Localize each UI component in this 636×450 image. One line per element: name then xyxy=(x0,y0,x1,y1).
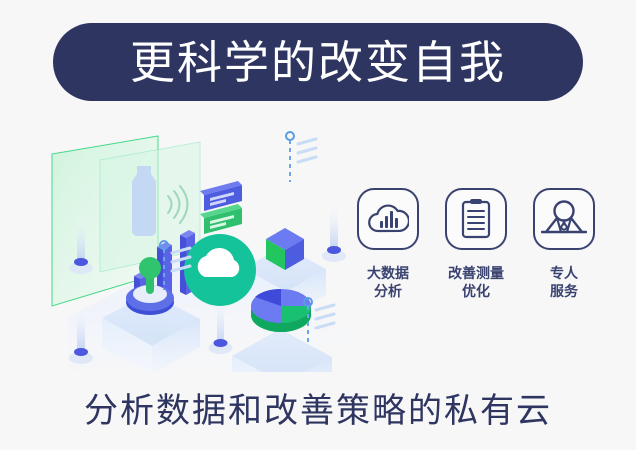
feature-label: 大数据 分析 xyxy=(367,264,409,300)
feature-label-line1: 专人 xyxy=(550,264,578,282)
map-pin-right-top xyxy=(286,132,316,182)
feature-label: 专人 服务 xyxy=(550,264,578,300)
glass-pin-far-right xyxy=(322,198,346,262)
cloud-bar-chart-icon xyxy=(357,188,419,250)
feature-label-line1: 大数据 xyxy=(367,264,409,282)
bottle-silhouette xyxy=(132,166,156,236)
feature-label-line2: 分析 xyxy=(367,282,409,300)
feature-dedicated-service[interactable]: 专人 服务 xyxy=(528,188,600,300)
feature-label-line2: 优化 xyxy=(448,282,504,300)
support-agent-icon xyxy=(533,188,595,250)
feature-label-line2: 服务 xyxy=(550,282,578,300)
title-banner: 更科学的改变自我 xyxy=(53,23,583,101)
promo-banner-page: 更科学的改变自我 xyxy=(0,0,636,450)
feature-big-data-analysis[interactable]: 大数据 分析 xyxy=(352,188,424,300)
footer-tagline: 分析数据和改善策略的私有云 xyxy=(0,383,636,432)
feature-label: 改善测量 优化 xyxy=(448,264,504,300)
feature-improvement-measurement[interactable]: 改善测量 优化 xyxy=(440,188,512,300)
clipboard-icon xyxy=(445,188,507,250)
feature-label-line1: 改善测量 xyxy=(448,264,504,282)
feature-list: 大数据 分析 改善测量 优化 xyxy=(352,188,600,328)
pie-chart xyxy=(251,289,311,332)
page-title: 更科学的改变自我 xyxy=(130,40,506,85)
isometric-data-platform-illustration xyxy=(40,122,360,372)
